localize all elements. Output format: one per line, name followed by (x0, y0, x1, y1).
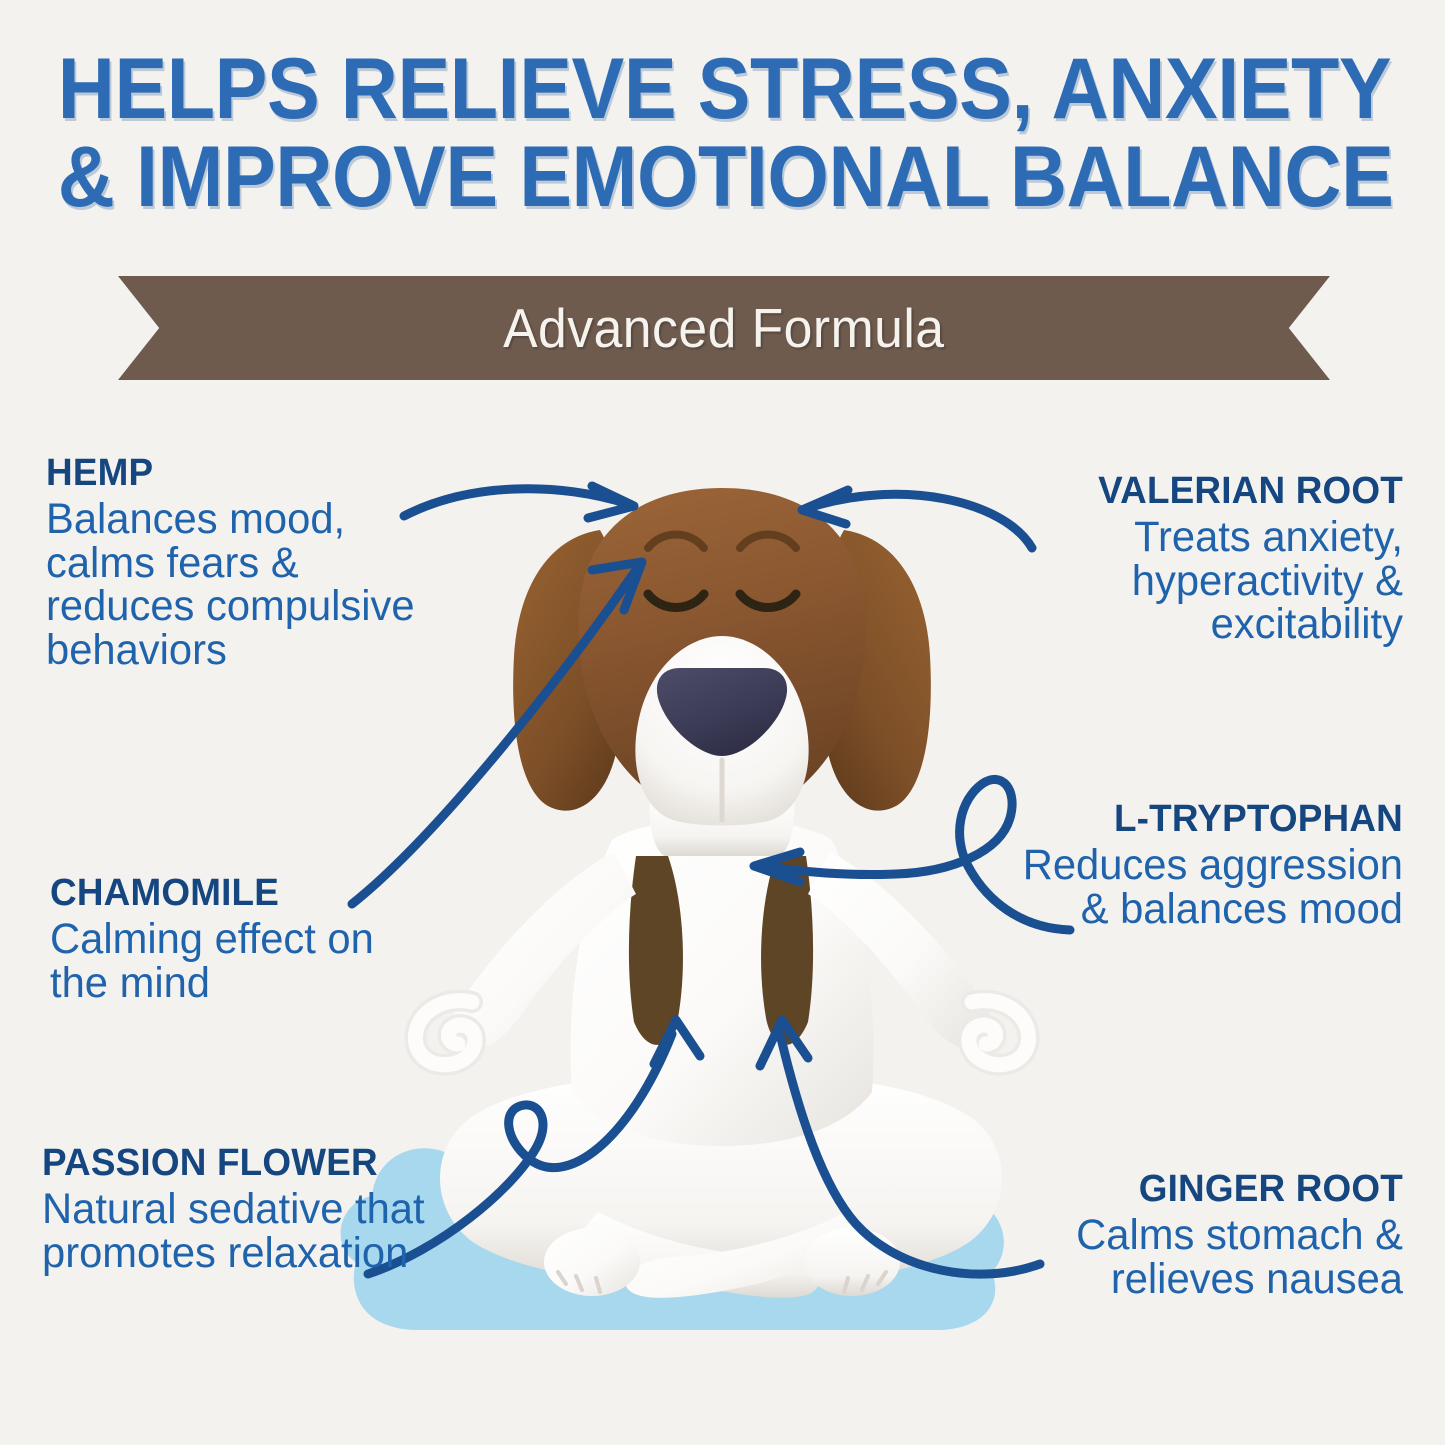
headline-line-1: HELPS RELIEVE STRESS, ANXIETY (58, 46, 1387, 134)
ingredient-title-valerian-root: VALERIAN ROOT (986, 470, 1403, 514)
ingredient-body-chamomile: Calming effect on the mind (50, 918, 438, 1006)
ingredient-body-l-tryptophan: Reduces aggression & balances mood (996, 844, 1403, 932)
ingredient-title-passion-flower: PASSION FLOWER (42, 1142, 449, 1186)
ingredient-block-hemp: HEMP Balances mood, calms fears & reduce… (46, 452, 446, 673)
ingredient-block-valerian-root: VALERIAN ROOT Treats anxiety, hyperactiv… (973, 470, 1403, 647)
ingredient-block-chamomile: CHAMOMILE Calming effect on the mind (50, 872, 450, 1005)
page-title: HELPS RELIEVE STRESS, ANXIETY & IMPROVE … (58, 46, 1387, 221)
ingredient-block-passion-flower: PASSION FLOWER Natural sedative that pro… (42, 1142, 462, 1275)
ingredient-body-ginger-root: Calms stomach & relieves nausea (996, 1214, 1403, 1302)
ingredient-block-ginger-root: GINGER ROOT Calms stomach & relieves nau… (983, 1168, 1403, 1301)
ingredient-body-passion-flower: Natural sedative that promotes relaxatio… (42, 1188, 449, 1276)
advanced-formula-banner: Advanced Formula (118, 276, 1330, 380)
dog-figure (415, 488, 1028, 1298)
ingredient-body-hemp: Balances mood, calms fears & reduces com… (46, 498, 434, 673)
infographic-canvas: HELPS RELIEVE STRESS, ANXIETY & IMPROVE … (0, 0, 1445, 1445)
ingredient-title-hemp: HEMP (46, 452, 434, 496)
ingredient-title-chamomile: CHAMOMILE (50, 872, 438, 916)
headline-line-2: & IMPROVE EMOTIONAL BALANCE (58, 134, 1387, 222)
ingredient-block-l-tryptophan: L-TRYPTOPHAN Reduces aggression & balanc… (983, 798, 1403, 931)
ingredient-body-valerian-root: Treats anxiety, hyperactivity & excitabi… (986, 516, 1403, 648)
ingredient-title-ginger-root: GINGER ROOT (996, 1168, 1403, 1212)
ingredient-title-l-tryptophan: L-TRYPTOPHAN (996, 798, 1403, 842)
banner-label: Advanced Formula (503, 296, 944, 360)
